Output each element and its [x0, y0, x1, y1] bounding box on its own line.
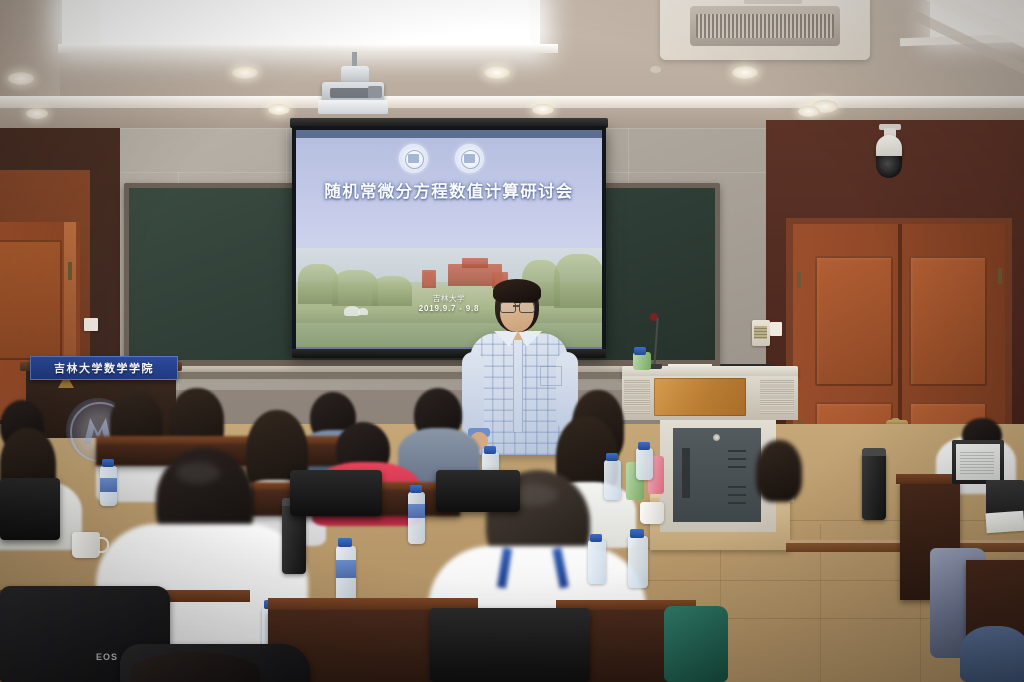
bottle-cap-icon — [484, 446, 496, 454]
screen-top-edge — [296, 130, 602, 138]
cabinet-vent — [682, 448, 690, 498]
door-hinge-icon — [68, 262, 72, 280]
slide-organizer: 吉林大学 — [296, 293, 602, 304]
water-bottle — [408, 492, 425, 544]
bottle-cap-icon — [634, 347, 646, 355]
cabinet-vent — [728, 494, 746, 496]
attendee-head — [756, 440, 802, 502]
laptop-screen-content — [960, 452, 994, 474]
lectern-wood-panel — [654, 378, 746, 416]
air-conditioner-tab — [744, 0, 802, 4]
projection-screen: 随机常微分方程数值计算研讨会 吉林大学 2019.9.7 - 9.8 — [296, 130, 602, 349]
podium-banner-text: 吉林大学数学学院 — [31, 357, 177, 379]
eyeglasses-icon — [519, 302, 535, 313]
thermos — [862, 452, 886, 520]
bottle-cap-icon — [338, 538, 352, 547]
projector-base — [318, 100, 388, 114]
downlight-icon — [732, 66, 758, 79]
speaker-hair — [493, 279, 541, 303]
bottle-cap-icon — [630, 529, 644, 538]
bottle-label — [336, 560, 356, 578]
ceiling-cove-trim — [58, 44, 558, 53]
door-hinge-icon — [797, 272, 801, 288]
attendee-body — [960, 626, 1024, 682]
cup — [72, 532, 100, 558]
cabinet-vent — [728, 458, 746, 460]
wall-switch[interactable] — [770, 322, 782, 336]
downlight-icon — [484, 66, 510, 79]
water-bottle — [636, 448, 653, 480]
ceiling-band — [0, 96, 1024, 108]
downlight-icon — [532, 104, 554, 115]
green-backpack — [664, 606, 728, 682]
chair-back — [430, 608, 590, 682]
bottle-cap-icon — [410, 485, 422, 493]
paper-stack — [985, 511, 1024, 534]
camera-bag-logo: EOS — [96, 652, 118, 662]
bottle-cap-icon — [590, 534, 602, 542]
downlight-icon — [8, 72, 34, 85]
water-bottle — [604, 460, 621, 500]
bottle-label — [408, 504, 425, 518]
university-emblem-right-icon — [455, 144, 484, 173]
slide-conference-title: 随机常微分方程数值计算研讨会 — [296, 178, 602, 202]
cabinet-vent — [728, 466, 746, 468]
downlight-icon — [26, 108, 48, 119]
eyeglasses-bridge — [513, 305, 520, 307]
wall-keypad-icon[interactable] — [754, 326, 767, 339]
speaker-arm-left — [462, 352, 484, 438]
bottle-cap-icon — [102, 459, 114, 467]
bottle-label — [100, 478, 117, 492]
slide-date-range: 2019.9.7 - 9.8 — [296, 304, 602, 313]
downlight-icon — [798, 106, 820, 117]
cabinet-lock-icon[interactable] — [713, 434, 720, 441]
podium-banner: 吉林大学数学学院 — [30, 356, 178, 380]
chair-back — [0, 478, 60, 540]
ceiling-light-panel-glow — [100, 0, 530, 50]
bottle-cap-icon — [606, 453, 618, 461]
thermos-cap — [862, 448, 886, 456]
cup — [640, 502, 664, 524]
lectern-speaker-grille — [624, 380, 650, 414]
speaker-shirt-placket — [513, 336, 523, 432]
lecture-hall-photo: 随机常微分方程数值计算研讨会 吉林大学 2019.9.7 - 9.8 — [0, 0, 1024, 682]
water-bottle — [628, 536, 648, 588]
eyeglasses-icon — [500, 302, 516, 313]
water-bottle — [588, 540, 606, 584]
smoke-detector-icon — [650, 66, 661, 73]
chair-back — [290, 470, 382, 516]
left-wall-switch[interactable] — [84, 318, 98, 331]
cabinet-vent — [728, 486, 746, 488]
left-door-panel — [0, 240, 62, 360]
cabinet-vent — [728, 502, 746, 504]
downlight-icon — [268, 104, 290, 115]
projector-lens-icon — [368, 86, 382, 98]
bottle-cap-icon — [638, 442, 650, 450]
air-conditioner-grille — [696, 14, 834, 38]
downlight-icon — [232, 66, 258, 79]
lectern-speaker-grille — [760, 380, 794, 414]
cabinet-vent — [728, 450, 746, 452]
door-hinge-icon — [998, 268, 1002, 284]
university-emblem-left-icon — [399, 144, 428, 173]
chair-back — [436, 470, 520, 512]
speaker-shirt-pocket — [540, 366, 562, 386]
